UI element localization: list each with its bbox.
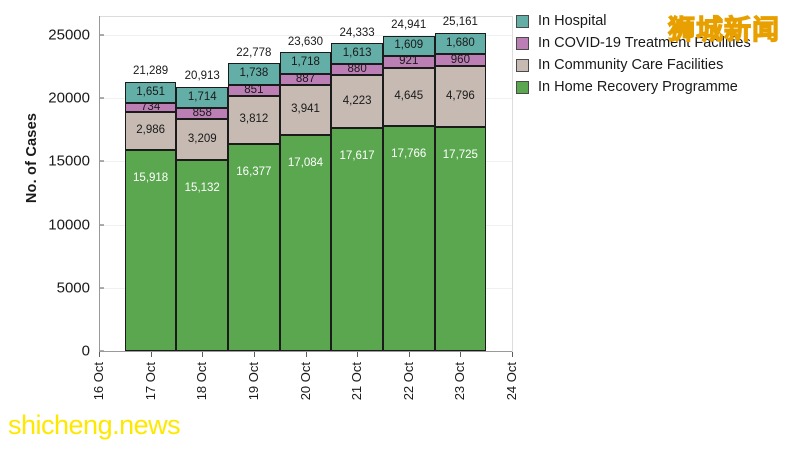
bar-segment[interactable]: 17,617 — [331, 128, 383, 351]
bar-segment-value-label: 1,714 — [188, 92, 217, 104]
bar-segment-value-label: 4,223 — [343, 96, 372, 108]
bar-segment-value-label: 1,680 — [446, 38, 475, 50]
bar-column[interactable]: 16,3773,8128511,73822,778 — [228, 16, 280, 351]
bar-segment[interactable]: 16,377 — [228, 144, 280, 351]
bar-column[interactable]: 15,1323,2098581,71420,913 — [176, 16, 228, 351]
bar-total-label: 21,289 — [133, 66, 168, 78]
x-tick-label: 22 Oct — [402, 362, 415, 400]
bar-segment-value-label: 1,609 — [394, 40, 423, 52]
legend-swatch-icon — [516, 37, 529, 50]
bar-segment-value-label: 921 — [399, 56, 418, 68]
bar-segment-value-label: 17,084 — [281, 158, 331, 170]
bar-segment-value-label: 15,918 — [126, 173, 176, 185]
legend-item-label: In Community Care Facilities — [538, 58, 723, 73]
x-tick-label: 23 Oct — [453, 362, 466, 400]
bar-segment[interactable]: 3,941 — [280, 85, 332, 135]
bar-segment-value-label: 15,132 — [177, 183, 227, 195]
bar-segment[interactable]: 1,609 — [383, 36, 435, 56]
bar-segment[interactable]: 15,132 — [176, 160, 228, 351]
legend-item[interactable]: In COVID-19 Treatment Facilities — [516, 32, 794, 54]
bar-total-label: 24,333 — [340, 28, 375, 40]
bar-segment-value-label: 960 — [451, 55, 470, 67]
bar-segment-value-label: 734 — [141, 102, 160, 114]
legend-swatch-icon — [516, 81, 529, 94]
bar-segment[interactable]: 1,651 — [125, 82, 177, 103]
x-tick-label: 24 Oct — [505, 362, 518, 400]
legend-item-label: In Hospital — [538, 14, 607, 29]
bar-segment-value-label: 3,209 — [188, 134, 217, 146]
x-tick-mark — [99, 352, 100, 357]
bar-segment[interactable]: 17,725 — [435, 127, 487, 351]
bar-segment[interactable]: 3,209 — [176, 119, 228, 160]
bar-segment[interactable]: 3,812 — [228, 96, 280, 144]
bar-segment[interactable]: 858 — [176, 108, 228, 119]
legend-item[interactable]: In Home Recovery Programme — [516, 76, 794, 98]
bar-total-label: 23,630 — [288, 37, 323, 49]
bar-segment[interactable]: 851 — [228, 85, 280, 96]
bar-segment[interactable]: 921 — [383, 56, 435, 68]
x-tick-label: 20 Oct — [299, 362, 312, 400]
stacked-bar-chart: No. of Cases 0500010000150002000025000 1… — [0, 0, 800, 450]
legend-item[interactable]: In Community Care Facilities — [516, 54, 794, 76]
x-tick-mark — [512, 352, 513, 357]
legend-swatch-icon — [516, 15, 529, 28]
legend-swatch-icon — [516, 59, 529, 72]
bar-segment[interactable]: 4,645 — [383, 68, 435, 127]
bar-total-label: 24,941 — [391, 20, 426, 32]
bar-segment[interactable]: 4,796 — [435, 66, 487, 127]
bar-segment[interactable]: 1,714 — [176, 87, 228, 109]
bar-total-label: 25,161 — [443, 17, 478, 29]
x-tick-label: 19 Oct — [247, 362, 260, 400]
bar-segment[interactable]: 880 — [331, 64, 383, 75]
bar-segment-value-label: 4,796 — [446, 91, 475, 103]
bar-segment-value-label: 16,377 — [229, 167, 279, 179]
x-tick-label: 16 Oct — [92, 362, 105, 400]
x-tick-mark — [151, 352, 152, 357]
bar-segment-value-label: 2,986 — [136, 125, 165, 137]
bar-segment-value-label: 3,812 — [239, 114, 268, 126]
bar-segment-value-label: 1,718 — [291, 57, 320, 69]
bar-segment-value-label: 851 — [244, 85, 263, 97]
x-tick-label: 17 Oct — [144, 362, 157, 400]
bar-segment[interactable]: 4,223 — [331, 75, 383, 128]
bar-column[interactable]: 17,7254,7969601,68025,161 — [435, 16, 487, 351]
legend-item[interactable]: In Hospital — [516, 10, 794, 32]
bar-segment[interactable]: 1,738 — [228, 63, 280, 85]
x-tick-mark — [409, 352, 410, 357]
bar-segment[interactable]: 2,986 — [125, 112, 177, 150]
bar-segment-value-label: 1,613 — [343, 48, 372, 60]
bar-column[interactable]: 17,6174,2238801,61324,333 — [331, 16, 383, 351]
bar-segment-value-label: 17,617 — [332, 151, 382, 163]
bar-segment[interactable]: 1,680 — [435, 33, 487, 54]
bar-column[interactable]: 17,0843,9418871,71823,630 — [280, 16, 332, 351]
bar-total-label: 22,778 — [236, 48, 271, 60]
bar-segment[interactable]: 734 — [125, 103, 177, 112]
bar-total-label: 20,913 — [185, 71, 220, 83]
bar-segment[interactable]: 17,766 — [383, 126, 435, 351]
bar-segment-value-label: 17,766 — [384, 149, 434, 161]
x-tick-mark — [254, 352, 255, 357]
bar-column[interactable]: 15,9182,9867341,65121,289 — [125, 16, 177, 351]
x-tick-label: 21 Oct — [350, 362, 363, 400]
bar-segment[interactable]: 1,613 — [331, 43, 383, 63]
bar-segment[interactable]: 17,084 — [280, 135, 332, 351]
bar-column[interactable]: 17,7664,6459211,60924,941 — [383, 16, 435, 351]
bar-segment[interactable]: 887 — [280, 74, 332, 85]
legend: In HospitalIn COVID-19 Treatment Facilit… — [516, 10, 794, 98]
bar-segment-value-label: 858 — [193, 108, 212, 120]
legend-item-label: In COVID-19 Treatment Facilities — [538, 36, 751, 51]
x-tick-label: 18 Oct — [195, 362, 208, 400]
x-tick-mark — [202, 352, 203, 357]
bar-segment[interactable]: 1,718 — [280, 52, 332, 74]
bar-segment[interactable]: 960 — [435, 54, 487, 66]
bar-segment-value-label: 17,725 — [436, 150, 486, 162]
bar-segment-value-label: 4,645 — [394, 91, 423, 103]
bar-segment-value-label: 1,738 — [239, 68, 268, 80]
bar-segment[interactable]: 15,918 — [125, 150, 177, 351]
bar-segment-value-label: 887 — [296, 74, 315, 86]
bar-segment-value-label: 3,941 — [291, 104, 320, 116]
bar-segment-value-label: 1,651 — [136, 87, 165, 99]
x-tick-mark — [306, 352, 307, 357]
x-tick-mark — [460, 352, 461, 357]
bar-segment-value-label: 880 — [348, 64, 367, 76]
x-tick-mark — [357, 352, 358, 357]
legend-item-label: In Home Recovery Programme — [538, 80, 738, 95]
